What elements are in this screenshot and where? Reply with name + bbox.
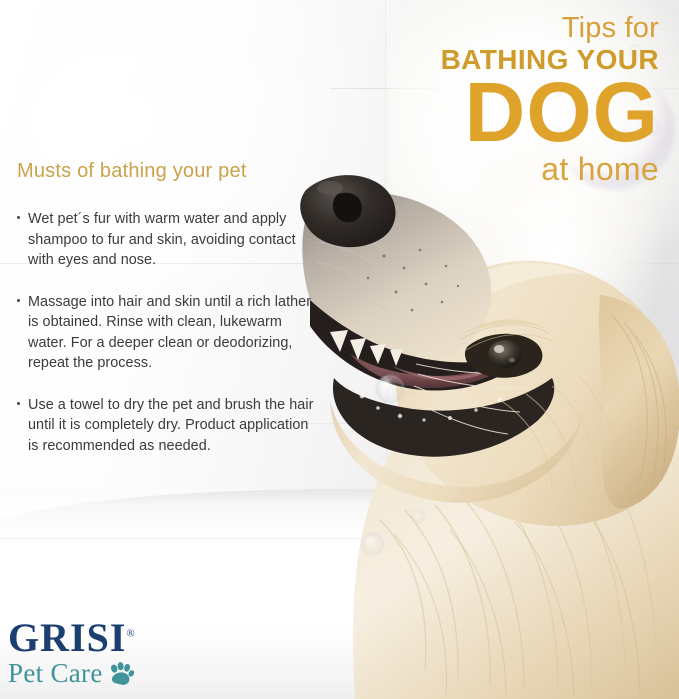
list-item: Wet pet´s fur with warm water and apply … (17, 209, 317, 271)
headline-block: Tips for BATHING YOUR DOG at home (441, 14, 659, 185)
logo-tagline: Pet Care (8, 660, 103, 687)
bullet-dot-icon (17, 299, 20, 302)
soap-bubble (376, 375, 404, 403)
list-item: Use a towel to dry the pet and brush the… (17, 395, 317, 457)
list-item-text: Massage into hair and skin until a rich … (28, 294, 311, 372)
bullet-dot-icon (17, 402, 20, 405)
paw-print-icon (108, 662, 134, 686)
brand-logo: GRISI® Pet Care (8, 618, 136, 687)
bullet-dot-icon (17, 216, 20, 219)
headline-line-tips-for: Tips for (441, 14, 659, 43)
list-item-text: Use a towel to dry the pet and brush the… (28, 397, 313, 454)
soap-bubble (411, 509, 425, 523)
registered-trademark-icon: ® (126, 628, 135, 640)
copy-block: Musts of bathing your pet Wet pet´s fur … (17, 160, 317, 456)
poster-canvas: Tips for BATHING YOUR DOG at home Musts … (0, 0, 679, 699)
logo-brand-text: GRISI (8, 615, 126, 660)
list-item: Massage into hair and skin until a rich … (17, 292, 317, 374)
logo-brand-name: GRISI® (8, 618, 136, 658)
musts-list: Wet pet´s fur with warm water and apply … (17, 209, 317, 456)
copy-heading: Musts of bathing your pet (17, 160, 317, 183)
golden-retriever-dog-photo (300, 150, 679, 699)
logo-tagline-row: Pet Care (8, 660, 136, 687)
soap-bubble (362, 533, 384, 555)
list-item-text: Wet pet´s fur with warm water and apply … (28, 211, 296, 268)
headline-line-dog: DOG (441, 76, 659, 150)
